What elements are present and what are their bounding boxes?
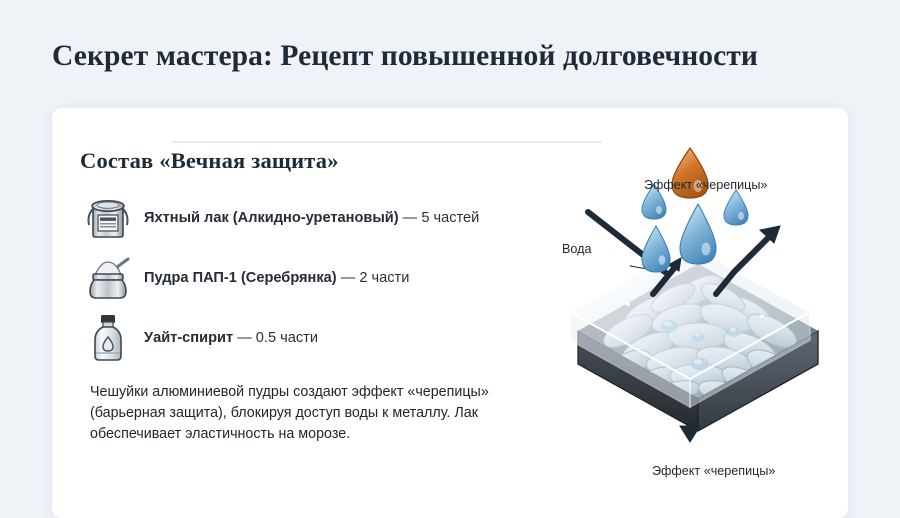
page-title: Секрет мастера: Рецепт повышенной долгов…	[52, 40, 852, 73]
solvent-bottle-icon	[80, 310, 136, 366]
title-divider	[172, 141, 602, 143]
ingredient-amount: — 5 частей	[399, 210, 480, 226]
diagram-label-top: Эффект «черепицы»	[644, 178, 767, 192]
list-item: Яхтный лак (Алкидно-уретановый) — 5 част…	[80, 188, 550, 248]
water-droplet	[724, 190, 748, 225]
ingredient-name: Уайт-спирит	[144, 330, 233, 346]
ingredient-name: Пудра ПАП-1 (Серебрянка)	[144, 270, 337, 286]
coating-cross-section-svg	[548, 126, 848, 456]
ingredient-text: Пудра ПАП-1 (Серебрянка) — 2 части	[144, 270, 409, 286]
water-droplet-large	[680, 204, 716, 264]
diagram-label-water: Вода	[562, 242, 591, 256]
powder-jar-icon	[80, 250, 136, 306]
ingredient-amount: — 2 части	[337, 270, 410, 286]
ingredients-list: Яхтный лак (Алкидно-уретановый) — 5 част…	[80, 188, 550, 368]
diagram-label-bottom: Эффект «черепицы»	[652, 464, 775, 478]
explanation-note: Чешуйки алюминиевой пудры создают эффект…	[90, 382, 522, 445]
list-item: Пудра ПАП-1 (Серебрянка) — 2 части	[80, 248, 550, 308]
ingredient-amount: — 0.5 части	[233, 330, 318, 346]
composition-panel: Состав «Вечная защита»	[80, 148, 550, 445]
paint-can-icon	[80, 190, 136, 246]
ingredient-text: Яхтный лак (Алкидно-уретановый) — 5 част…	[144, 210, 479, 226]
section-title: Состав «Вечная защита»	[80, 148, 550, 174]
arrow-bottom-pointer	[680, 426, 700, 442]
water-droplet	[642, 226, 670, 272]
droplets	[642, 148, 748, 272]
shingle-effect-diagram: Эффект «черепицы» Вода Эффект «черепицы»	[548, 126, 848, 506]
ingredient-name: Яхтный лак (Алкидно-уретановый)	[144, 210, 399, 226]
content-card: Состав «Вечная защита»	[52, 108, 848, 518]
list-item: Уайт-спирит — 0.5 части	[80, 308, 550, 368]
ingredient-text: Уайт-спирит — 0.5 части	[144, 330, 318, 346]
